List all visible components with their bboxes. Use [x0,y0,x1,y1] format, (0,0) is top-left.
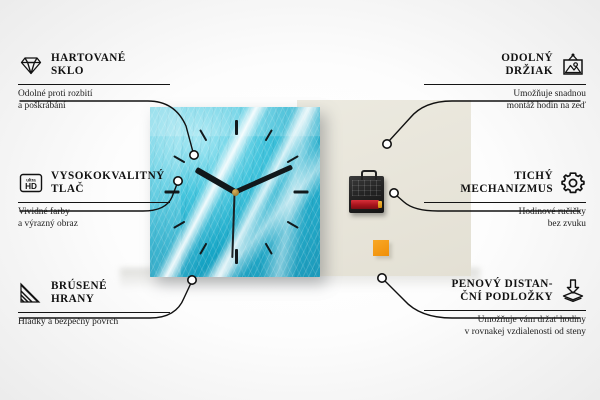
ground-edge-icon [18,280,44,306]
feature-title: ODOLNÝ DRŽIAK [501,52,553,77]
gear-icon [560,170,586,196]
feature-durable-holder: ODOLNÝ DRŽIAK Umožňuje snadnou montáž ho… [424,50,586,112]
battery [351,200,379,209]
clock-tick [294,191,309,194]
foam-spacer-pad [373,240,389,256]
diamond-icon [18,52,44,78]
feature-divider [424,310,586,311]
feature-head: PENOVÝ DISTAN- ČNÍ PODLOŽKY [424,276,586,306]
svg-text:HD: HD [25,182,37,191]
movement-grid [352,180,381,196]
clock-movement [349,176,384,213]
feature-head: ultra HD VYSOKOKVALITNÝ TLAČ [18,168,170,198]
arrow-onto-pads-icon [560,278,586,304]
feature-silent-mechanism: TICHÝ MECHANIZMUS Hodinové ručičky bez z… [424,168,586,230]
wall-clock [150,107,320,277]
feature-head: BRÚSENÉ HRANY [18,278,170,308]
feature-divider [18,202,170,203]
feature-ground-edges: BRÚSENÉ HRANY Hladký a bezpečný povrch [18,278,170,329]
feature-head: HARTOVANÉ SKLO [18,50,170,80]
feature-tempered-glass: HARTOVANÉ SKLO Odolné proti rozbití a po… [18,50,170,112]
feature-title: PENOVÝ DISTAN- ČNÍ PODLOŽKY [451,278,553,303]
feature-title: HARTOVANÉ SKLO [51,52,126,77]
picture-frame-icon [560,52,586,78]
ultra-hd-icon: ultra HD [18,170,44,196]
infographic-stage: HARTOVANÉ SKLO Odolné proti rozbití a po… [0,0,600,400]
movement-hanger [361,170,377,180]
feature-title: TICHÝ MECHANIZMUS [460,170,553,195]
feature-head: TICHÝ MECHANIZMUS [424,168,586,198]
clock-center-cap [232,189,239,196]
clock-tick [235,249,238,264]
feature-divider [424,84,586,85]
clock-tick [235,120,238,135]
feature-high-quality-print: ultra HD VYSOKOKVALITNÝ TLAČ Vividné far… [18,168,170,230]
feature-head: ODOLNÝ DRŽIAK [424,50,586,80]
feature-title: BRÚSENÉ HRANY [51,280,107,305]
feature-divider [18,84,170,85]
feature-foam-spacers: PENOVÝ DISTAN- ČNÍ PODLOŽKY Umožňuje vám… [424,276,586,338]
feature-title: VYSOKOKVALITNÝ TLAČ [51,170,165,195]
feature-divider [18,312,170,313]
feature-divider [424,202,586,203]
